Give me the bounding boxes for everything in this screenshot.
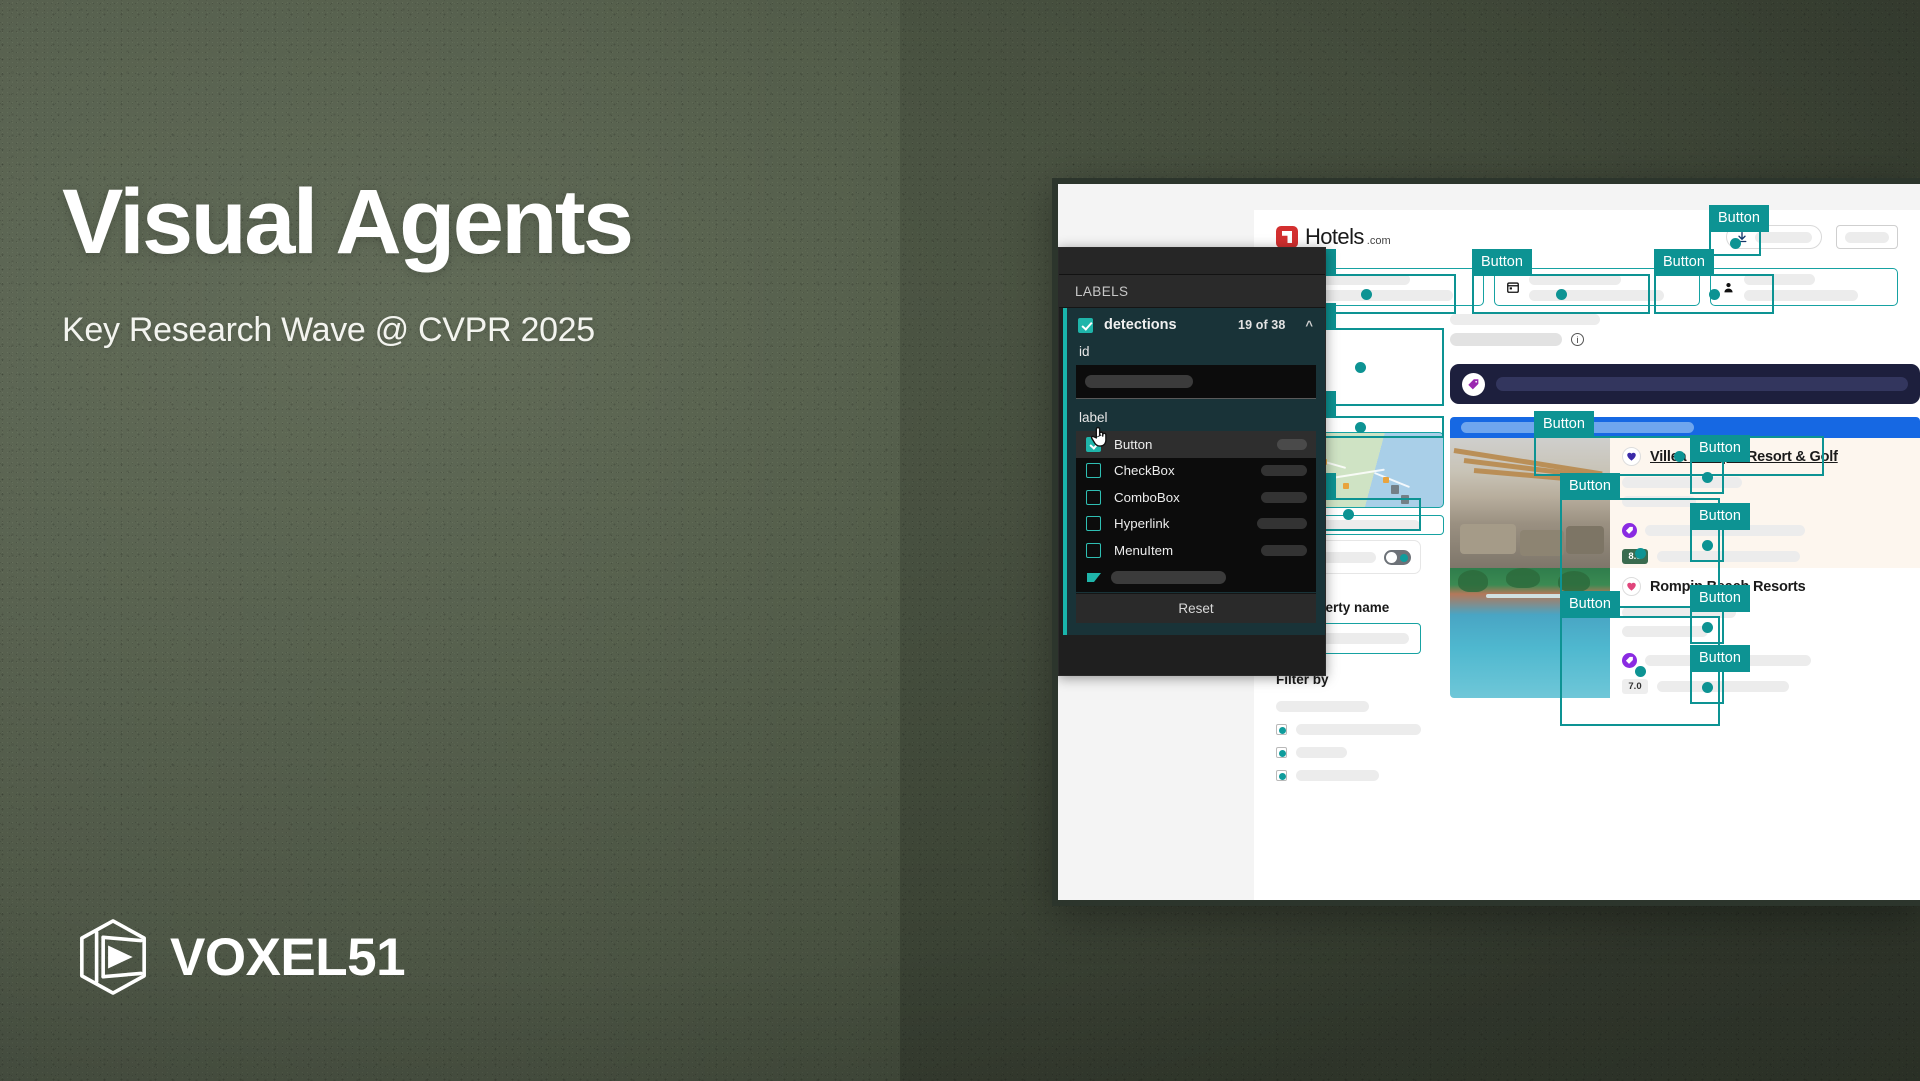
label-filter-row[interactable] bbox=[1076, 564, 1316, 592]
labels-section-header: LABELS bbox=[1059, 275, 1325, 308]
label-field-label: label bbox=[1067, 408, 1325, 431]
hotels-logo-icon bbox=[1276, 226, 1298, 248]
id-field-label: id bbox=[1067, 342, 1325, 365]
detection-center-dot bbox=[1709, 289, 1720, 300]
screenshot-panel: Hotels .com bbox=[1058, 184, 1920, 900]
label-value-row[interactable]: MenuItem bbox=[1076, 537, 1316, 564]
detection-box: Button bbox=[1534, 436, 1824, 476]
label-checkbox[interactable] bbox=[1086, 463, 1101, 478]
detection-label: Button bbox=[1472, 249, 1532, 277]
label-checkbox[interactable] bbox=[1086, 516, 1101, 531]
label-value-name: CheckBox bbox=[1114, 463, 1175, 478]
detection-label: Button bbox=[1690, 435, 1750, 463]
label-values-list: Button CheckBox ComboBox Hyperlink bbox=[1076, 431, 1316, 592]
label-checkbox[interactable] bbox=[1086, 543, 1101, 558]
detection-label: Button bbox=[1709, 205, 1769, 233]
app-header: Hotels .com bbox=[1254, 210, 1920, 264]
sidebar-top-strip bbox=[1059, 248, 1325, 275]
funnel-icon bbox=[1087, 573, 1101, 582]
detection-box: Button bbox=[1654, 274, 1774, 314]
detections-checkbox[interactable] bbox=[1078, 318, 1093, 333]
filter-option[interactable] bbox=[1276, 770, 1436, 781]
detection-label: Button bbox=[1560, 591, 1620, 619]
tag-icon bbox=[1462, 373, 1485, 396]
detection-label: Button bbox=[1690, 645, 1750, 673]
label-checkbox[interactable] bbox=[1086, 490, 1101, 505]
detection-label: Button bbox=[1654, 249, 1714, 277]
header-action-button[interactable] bbox=[1836, 225, 1898, 249]
fiftyone-sidebar: LABELS detections 19 of 38 ^ id label Bu… bbox=[1058, 247, 1326, 676]
promo-banner[interactable] bbox=[1450, 364, 1920, 404]
detection-box: Button bbox=[1690, 670, 1724, 704]
label-value-name: Hyperlink bbox=[1114, 516, 1169, 531]
detection-center-dot bbox=[1674, 451, 1685, 462]
label-value-row[interactable]: CheckBox bbox=[1076, 458, 1316, 485]
filter-option[interactable] bbox=[1276, 747, 1436, 758]
label-value-row[interactable]: Button bbox=[1076, 431, 1316, 458]
detection-box: Button bbox=[1690, 460, 1724, 494]
detection-label: Button bbox=[1560, 473, 1620, 501]
detection-box: Button bbox=[1472, 274, 1650, 314]
detection-center-dot bbox=[1730, 238, 1741, 249]
label-value-row[interactable]: Hyperlink bbox=[1076, 511, 1316, 538]
detection-label: Button bbox=[1534, 411, 1594, 439]
detections-group: detections 19 of 38 ^ id label Button Ch… bbox=[1063, 308, 1325, 635]
detections-label: detections bbox=[1104, 317, 1177, 333]
detection-box: Button bbox=[1709, 230, 1761, 256]
detection-center-dot bbox=[1702, 472, 1713, 483]
info-row: i bbox=[1450, 333, 1920, 346]
label-value-name: ComboBox bbox=[1114, 490, 1180, 505]
label-value-name: Button bbox=[1114, 437, 1152, 452]
detections-group-header[interactable]: detections 19 of 38 ^ bbox=[1067, 308, 1325, 342]
detection-box: Button bbox=[1690, 610, 1724, 644]
detection-center-dot bbox=[1702, 682, 1713, 693]
id-input[interactable] bbox=[1076, 365, 1316, 399]
hotels-brand-suffix: .com bbox=[1367, 235, 1391, 247]
detection-box: Button bbox=[1690, 528, 1724, 562]
detection-label: Button bbox=[1690, 585, 1750, 613]
detection-center-dot bbox=[1702, 622, 1713, 633]
filter-option[interactable] bbox=[1276, 724, 1436, 735]
reset-button[interactable]: Reset bbox=[1076, 593, 1316, 623]
detection-center-dot bbox=[1343, 509, 1354, 520]
page-title: Visual Agents bbox=[62, 176, 822, 268]
hero-text-block: Visual Agents Key Research Wave @ CVPR 2… bbox=[62, 176, 822, 349]
detection-center-dot bbox=[1361, 289, 1372, 300]
page-subtitle: Key Research Wave @ CVPR 2025 bbox=[62, 312, 822, 349]
checkbox-icon[interactable] bbox=[1276, 770, 1287, 781]
detection-center-dot bbox=[1635, 666, 1646, 677]
voxel51-wordmark: VOXEL51 bbox=[170, 931, 405, 984]
detection-center-dot bbox=[1635, 548, 1646, 559]
info-icon[interactable]: i bbox=[1571, 333, 1584, 346]
checkbox-icon[interactable] bbox=[1276, 724, 1287, 735]
promo-skeleton bbox=[1496, 377, 1908, 391]
checkbox-icon[interactable] bbox=[1276, 747, 1287, 758]
label-value-row[interactable]: ComboBox bbox=[1076, 484, 1316, 511]
chevron-up-icon[interactable]: ^ bbox=[1305, 319, 1313, 332]
detections-count: 19 of 38 bbox=[1238, 318, 1285, 332]
detection-center-dot bbox=[1355, 422, 1366, 433]
toggle-icon[interactable] bbox=[1384, 550, 1411, 565]
detection-center-dot bbox=[1702, 540, 1713, 551]
detection-center-dot bbox=[1556, 289, 1567, 300]
voxel51-logo: VOXEL51 bbox=[72, 916, 405, 998]
label-value-name: MenuItem bbox=[1114, 543, 1173, 558]
results-banner bbox=[1450, 417, 1920, 438]
filter-by-block: Filter by bbox=[1276, 672, 1436, 781]
detection-label: Button bbox=[1690, 503, 1750, 531]
label-checkbox[interactable] bbox=[1086, 437, 1101, 452]
voxel51-mark-icon bbox=[72, 916, 154, 998]
detection-center-dot bbox=[1355, 362, 1366, 373]
